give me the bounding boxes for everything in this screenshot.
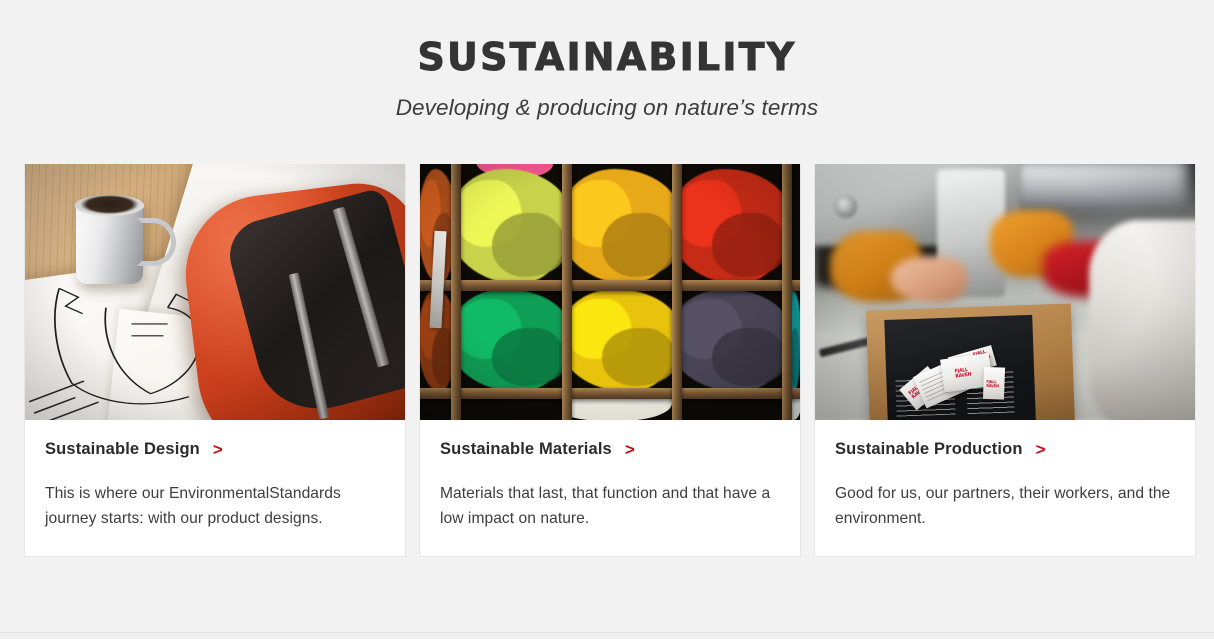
cubby-charcoal-purple bbox=[675, 284, 785, 392]
card-image-sustainable-design bbox=[25, 164, 405, 420]
wool-tuft-rust-dark bbox=[420, 289, 454, 392]
footer-divider-secondary bbox=[0, 635, 1214, 636]
wool-tuft-golden-yellow bbox=[564, 169, 674, 285]
wool-tuft-rust bbox=[420, 169, 454, 285]
page-subtitle: Developing & producing on nature’s terms bbox=[0, 95, 1214, 121]
card-image-sustainable-materials bbox=[420, 164, 800, 420]
wool-tuft-red bbox=[675, 169, 785, 285]
card-link-sustainable-production[interactable]: Sustainable Production > bbox=[835, 440, 1175, 459]
cubby-bottom-5 bbox=[785, 392, 800, 420]
cubby-grid bbox=[420, 164, 800, 420]
card-sustainable-design[interactable]: Sustainable Design > This is where our E… bbox=[24, 164, 406, 557]
card-description: Good for us, our partners, their workers… bbox=[835, 481, 1175, 532]
page-header: SUSTAINABILITY Developing & producing on… bbox=[0, 0, 1214, 121]
card-body-sustainable-materials: Sustainable Materials > Materials that l… bbox=[420, 420, 800, 556]
cubby-red bbox=[675, 164, 785, 284]
page-title: SUSTAINABILITY bbox=[0, 38, 1214, 78]
cubby-teal bbox=[785, 284, 800, 392]
wool-tuft-charcoal-purple bbox=[675, 289, 785, 392]
photo-vignette bbox=[25, 164, 405, 420]
cubby-rust-dark bbox=[420, 284, 454, 392]
footer-divider bbox=[0, 632, 1214, 633]
cubby-green bbox=[454, 284, 564, 392]
wool-tuft-natural-white bbox=[564, 392, 672, 420]
card-image-sustainable-production: FJALL RAVEN FJALL RAVEN FJALL bbox=[815, 164, 1195, 420]
wool-tuft-teal bbox=[785, 289, 800, 392]
cubby-bottom-left bbox=[420, 392, 454, 420]
cubby-bottom-2 bbox=[454, 392, 564, 420]
card-description: This is where our EnvironmentalStandards… bbox=[45, 481, 385, 532]
card-heading-label: Sustainable Design bbox=[45, 440, 200, 459]
card-sustainable-production[interactable]: FJALL RAVEN FJALL RAVEN FJALL bbox=[814, 164, 1196, 557]
card-heading-label: Sustainable Materials bbox=[440, 440, 612, 459]
wool-tuft-chartreuse bbox=[454, 169, 564, 285]
sustainability-page: SUSTAINABILITY Developing & producing on… bbox=[0, 0, 1214, 639]
cubby-rust bbox=[420, 164, 454, 284]
wool-tuft-green bbox=[454, 289, 564, 392]
wool-tuft-pale-grey bbox=[785, 392, 800, 420]
card-body-sustainable-production: Sustainable Production > Good for us, ou… bbox=[815, 420, 1195, 556]
cubby-natural-white bbox=[564, 392, 674, 420]
cubby-yellow bbox=[564, 284, 674, 392]
card-grid: Sustainable Design > This is where our E… bbox=[24, 164, 1196, 557]
cubby-edge-top bbox=[785, 164, 800, 284]
card-link-sustainable-design[interactable]: Sustainable Design > bbox=[45, 440, 385, 459]
cubby-chartreuse bbox=[454, 164, 564, 284]
card-body-sustainable-design: Sustainable Design > This is where our E… bbox=[25, 420, 405, 556]
chevron-right-icon: > bbox=[625, 441, 635, 458]
photo-vignette bbox=[815, 164, 1195, 420]
chevron-right-icon: > bbox=[1036, 441, 1046, 458]
card-sustainable-materials[interactable]: Sustainable Materials > Materials that l… bbox=[419, 164, 801, 557]
wool-tuft-yellow bbox=[564, 289, 674, 392]
card-description: Materials that last, that function and t… bbox=[440, 481, 780, 532]
card-link-sustainable-materials[interactable]: Sustainable Materials > bbox=[440, 440, 780, 459]
cubby-golden-yellow bbox=[564, 164, 674, 284]
card-heading-label: Sustainable Production bbox=[835, 440, 1023, 459]
cubby-bottom-4 bbox=[675, 392, 785, 420]
chevron-right-icon: > bbox=[213, 441, 223, 458]
